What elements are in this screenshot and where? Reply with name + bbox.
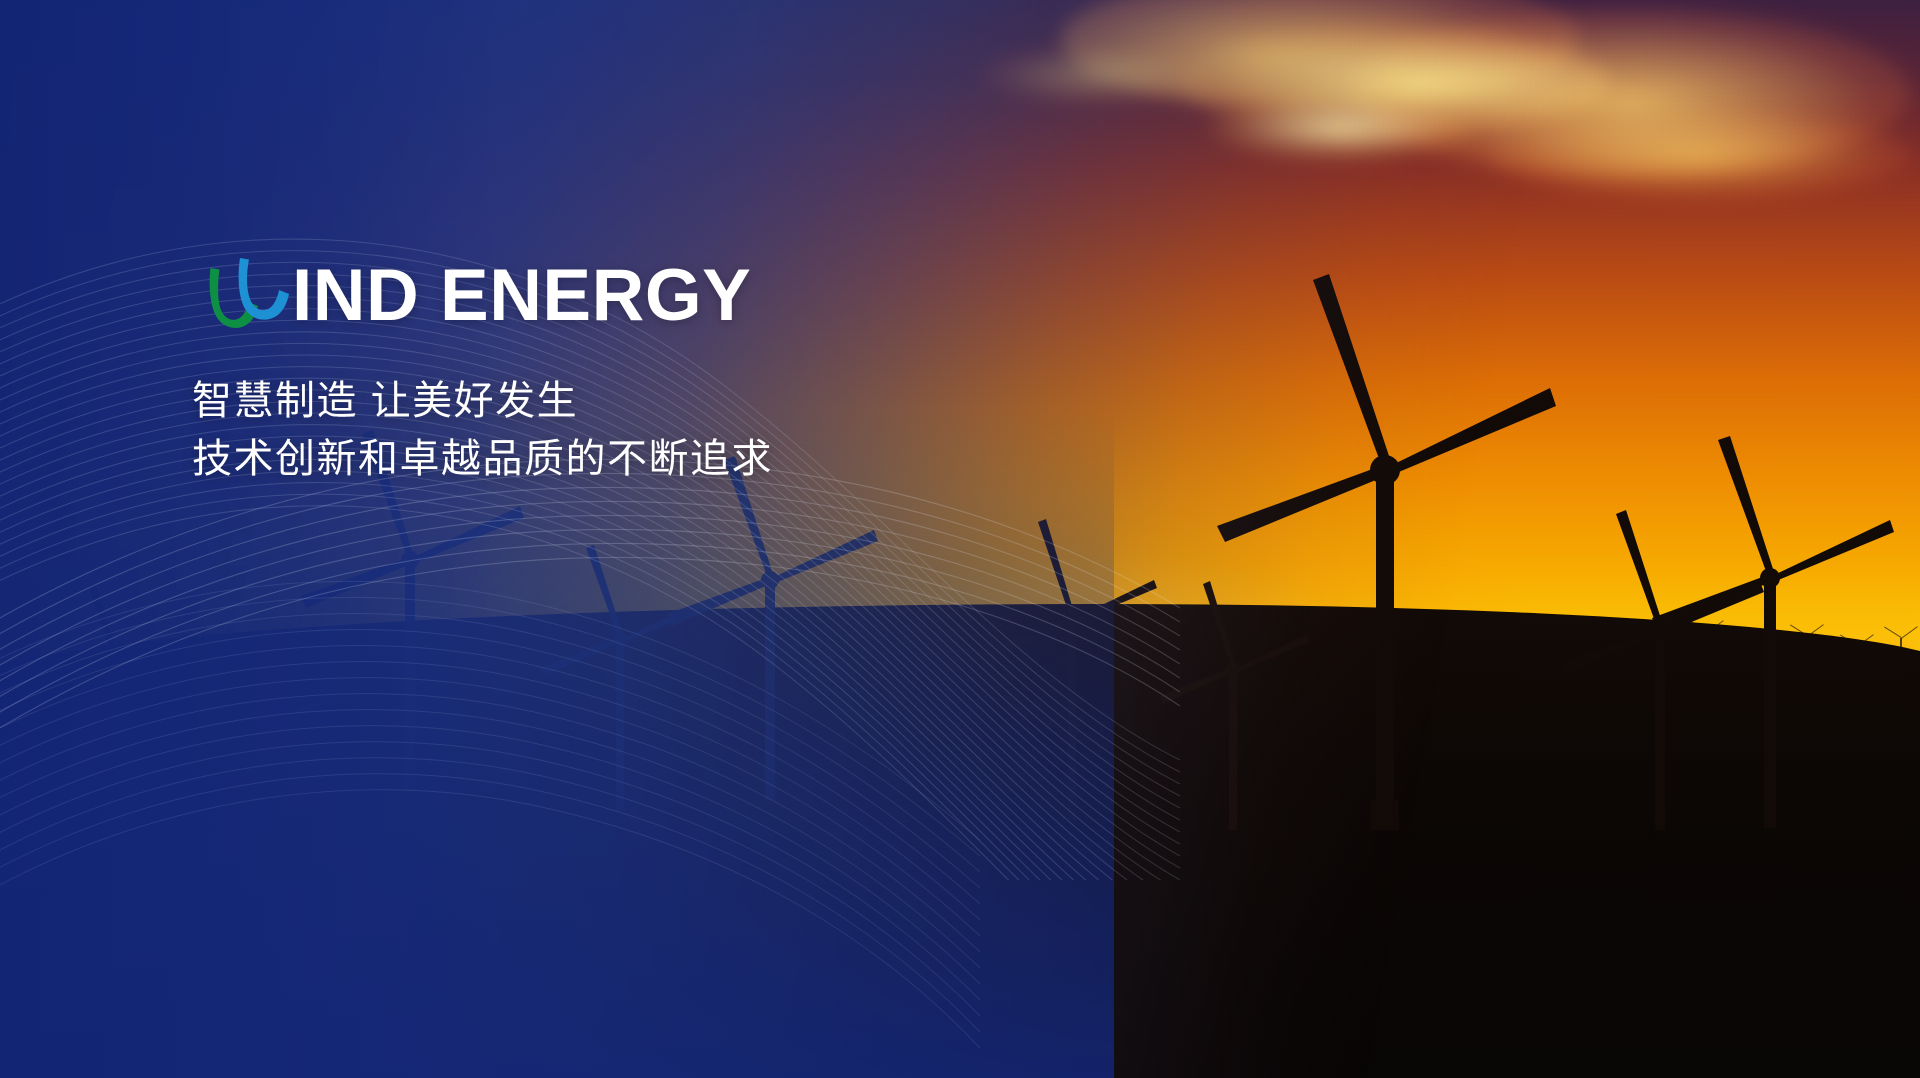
hero-banner: IND ENERGY 智慧制造 让美好发生 技术创新和卓越品质的不断追求	[0, 0, 1920, 1078]
background-photo-wind-farm-sunset	[0, 0, 1920, 1078]
turbine-silhouettes	[0, 0, 1920, 1078]
brand-name: IND ENERGY	[292, 259, 751, 332]
tagline-line-2: 技术创新和卓越品质的不断追求	[192, 430, 1092, 488]
brand-lockup: IND ENERGY	[192, 244, 1092, 346]
wind-energy-w-mark-icon	[192, 252, 296, 344]
tagline-block: 智慧制造 让美好发生 技术创新和卓越品质的不断追求	[192, 372, 1092, 488]
hero-content: IND ENERGY 智慧制造 让美好发生 技术创新和卓越品质的不断追求	[192, 244, 1092, 488]
tagline-line-1: 智慧制造 让美好发生	[192, 372, 1092, 430]
